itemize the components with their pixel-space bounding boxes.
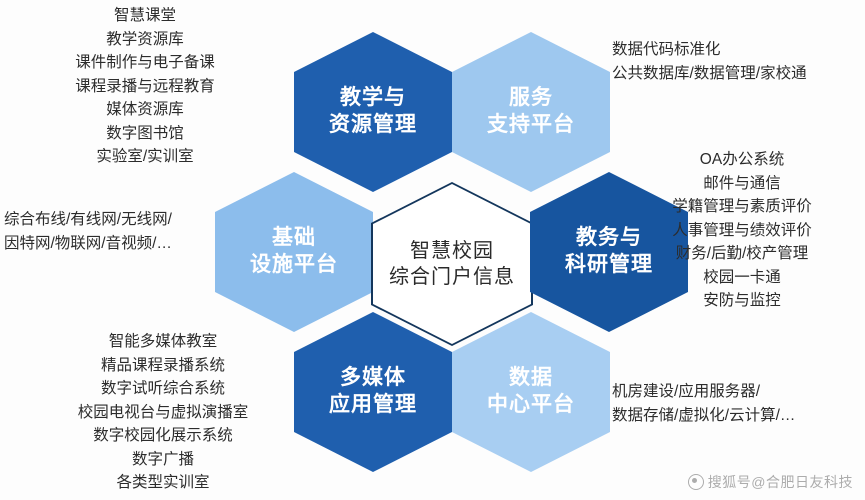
note-line: 因特网/物联网/音视频/… <box>4 232 172 256</box>
note-data-center-platform: 机房建设/应用服务器/ 数据存储/虚拟化/云计算/… <box>612 380 795 427</box>
hexagon-multimedia-line2: 应用管理 <box>329 392 417 419</box>
note-line: 数字广播 <box>18 448 308 472</box>
hexagon-teaching-line1: 教学与 <box>340 85 406 112</box>
note-line: 机房建设/应用服务器/ <box>612 380 795 404</box>
note-line: 数字试听综合系统 <box>18 377 308 401</box>
hexagon-center-smart-campus-portal[interactable]: 智慧校园 综合门户信息 <box>371 182 533 346</box>
hexagon-multimedia-line1: 多媒体 <box>340 365 406 392</box>
note-line: 财务/后勤/校产管理 <box>627 242 857 266</box>
hexagon-center-line1: 智慧校园 <box>410 238 494 264</box>
note-line: 课程录播与远程教育 <box>0 75 290 99</box>
note-line: OA办公系统 <box>627 148 857 172</box>
hexagon-center-line2: 综合门户信息 <box>389 264 515 290</box>
note-line: 学籍管理与素质评价 <box>627 195 857 219</box>
hexagon-service-line2: 支持平台 <box>487 112 575 139</box>
note-line: 媒体资源库 <box>0 98 290 122</box>
hexagon-infrastructure-platform[interactable]: 基础 设施平台 <box>215 172 373 332</box>
diagram-canvas: 教学与 资源管理 服务 支持平台 基础 设施平台 智慧校园 综合门户信息 教务与… <box>0 0 865 500</box>
hexagon-infrastructure-line2: 设施平台 <box>250 252 338 279</box>
note-service-support-platform: 数据代码标准化 公共数据库/数据管理/家校通 <box>612 38 807 85</box>
note-line: 数字图书馆 <box>0 122 290 146</box>
hexagon-service-support-platform[interactable]: 服务 支持平台 <box>452 32 610 192</box>
hexagon-teaching-resource-management[interactable]: 教学与 资源管理 <box>294 32 452 192</box>
note-infrastructure-platform: 综合布线/有线网/无线网/ 因特网/物联网/音视频/… <box>4 208 172 255</box>
sohu-logo-icon <box>688 474 704 490</box>
note-line: 各类型实训室 <box>18 471 308 495</box>
note-line: 邮件与通信 <box>627 172 857 196</box>
hexagon-datacenter-line2: 中心平台 <box>487 392 575 419</box>
note-line: 实验室/实训室 <box>0 145 290 169</box>
note-line: 数据存储/虚拟化/云计算/… <box>612 404 795 428</box>
note-line: 安防与监控 <box>627 289 857 313</box>
watermark-text: 搜狐号@合肥日友科技 <box>708 472 853 492</box>
hexagon-center-fill: 智慧校园 综合门户信息 <box>373 184 531 344</box>
note-line: 数字校园化展示系统 <box>18 424 308 448</box>
note-line: 综合布线/有线网/无线网/ <box>4 208 172 232</box>
note-line: 数据代码标准化 <box>612 38 807 62</box>
note-line: 课件制作与电子备课 <box>0 51 290 75</box>
note-line: 校园电视台与虚拟演播室 <box>18 401 308 425</box>
hexagon-infrastructure-line1: 基础 <box>272 225 316 252</box>
note-teaching-resource-management: 智慧课堂 教学资源库 课件制作与电子备课 课程录播与远程教育 媒体资源库 数字图… <box>0 4 290 169</box>
hexagon-service-line1: 服务 <box>509 85 553 112</box>
note-line: 校园一卡通 <box>627 266 857 290</box>
note-line: 教学资源库 <box>0 28 290 52</box>
note-line: 智慧课堂 <box>0 4 290 28</box>
note-academic-research-management: OA办公系统 邮件与通信 学籍管理与素质评价 人事管理与绩效评价 财务/后勤/校… <box>627 148 857 313</box>
note-line: 人事管理与绩效评价 <box>627 219 857 243</box>
hexagon-teaching-line2: 资源管理 <box>329 112 417 139</box>
note-multimedia-application-management: 智能多媒体教室 精品课程录播系统 数字试听综合系统 校园电视台与虚拟演播室 数字… <box>18 330 308 495</box>
note-line: 智能多媒体教室 <box>18 330 308 354</box>
note-line: 公共数据库/数据管理/家校通 <box>612 62 807 86</box>
watermark: 搜狐号@合肥日友科技 <box>688 472 853 492</box>
hexagon-datacenter-line1: 数据 <box>509 365 553 392</box>
note-line: 精品课程录播系统 <box>18 354 308 378</box>
